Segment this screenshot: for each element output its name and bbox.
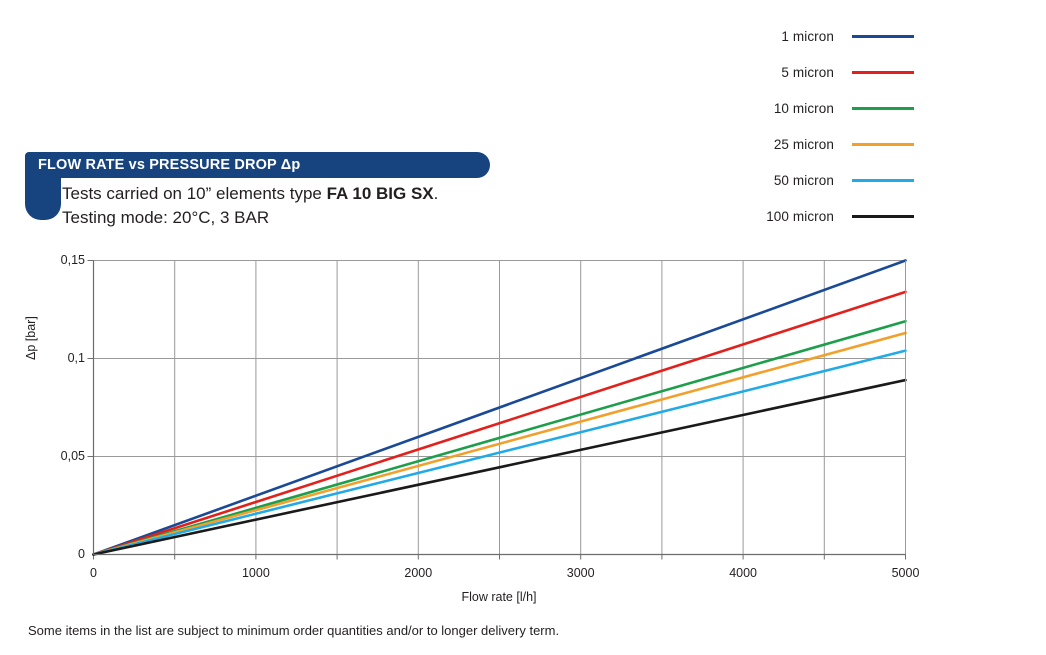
x-tick-label: 3000 [567, 566, 595, 580]
footer-note: Some items in the list are subject to mi… [28, 623, 559, 638]
x-tick-label: 0 [90, 566, 97, 580]
x-tick-label: 1000 [242, 566, 270, 580]
y-axis-title: Δp [bar] [24, 316, 38, 360]
x-tick-label: 2000 [404, 566, 432, 580]
x-tick-label: 5000 [892, 566, 920, 580]
x-tick-label: 4000 [729, 566, 757, 580]
x-axis-tick-labels: 010002000300040005000 [0, 0, 1046, 655]
x-axis-title: Flow rate [l/h] [461, 590, 536, 604]
